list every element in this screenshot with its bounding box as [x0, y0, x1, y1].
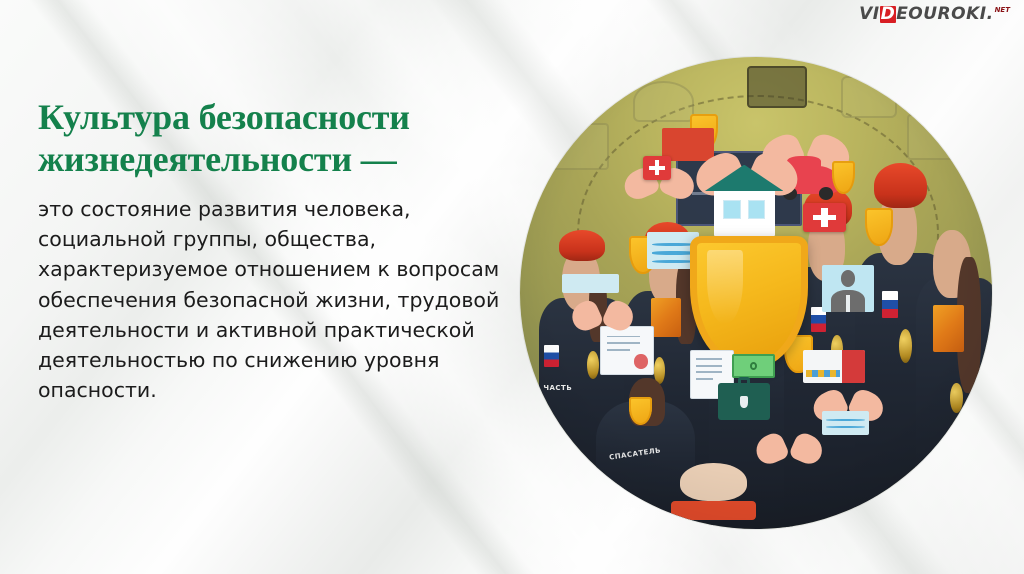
protecting-hands-icon	[572, 302, 633, 330]
fire-truck-cab	[842, 350, 864, 383]
person-tie	[846, 295, 850, 312]
document-stamp	[634, 354, 647, 368]
checklist-line	[696, 358, 722, 360]
wave-line	[652, 260, 696, 263]
money-icon	[732, 354, 774, 378]
cpr-dummy	[680, 463, 746, 501]
cpr-dummy-base	[671, 501, 756, 520]
slide-body-text: это состояние развития человека, социаль…	[38, 194, 508, 405]
circular-photo: ЧАСТЬ	[520, 57, 992, 529]
document-icon	[600, 326, 654, 375]
document-line	[607, 349, 630, 351]
briefcase-icon	[718, 383, 770, 421]
cadet-scarf	[933, 305, 964, 353]
wall-doodle	[841, 76, 897, 118]
hand-left	[567, 298, 604, 335]
logo-domain-suffix: NET	[995, 7, 1010, 14]
house-window	[723, 200, 740, 219]
title-line-1: Культура безопасности	[38, 96, 498, 138]
videouroki-logo[interactable]: VI D EOUROKI . NET	[859, 6, 1010, 23]
person-card-icon	[822, 265, 874, 312]
document-line	[607, 336, 639, 338]
checklist-line	[696, 371, 722, 373]
wall-doodle	[548, 123, 609, 169]
wall-doodle	[747, 66, 808, 108]
photo-scene-background: ЧАСТЬ	[520, 57, 992, 529]
title-line-2-text: жизнедеятельности	[38, 139, 352, 179]
uniform-badge	[899, 329, 912, 363]
logo-text-prefix: VI	[859, 6, 879, 23]
cadet-figure	[916, 189, 992, 529]
waves-icon	[822, 411, 869, 435]
cadet-beret-icon	[559, 230, 606, 261]
cadet-scarf	[651, 298, 681, 338]
briefcase-lock	[740, 396, 748, 409]
fire-truck-stripe	[806, 370, 840, 377]
uniform-chest-text: ЧАСТЬ	[543, 384, 572, 392]
logo-text-main: EOUROKI	[896, 6, 986, 23]
hand-right	[787, 430, 826, 468]
russian-flag-patch	[882, 291, 898, 317]
first-aid-icon	[803, 203, 845, 231]
checklist-line	[696, 365, 722, 367]
wave-line	[652, 243, 696, 246]
protecting-hands-icon	[756, 435, 822, 463]
tray-icon	[562, 274, 619, 293]
hand-right	[601, 298, 638, 335]
car-wheel	[819, 187, 834, 200]
russian-flag-patch	[544, 345, 558, 367]
document-line	[607, 342, 639, 344]
wave-line	[652, 251, 696, 254]
logo-accent-letter: D	[880, 6, 897, 23]
wave-line	[826, 426, 866, 428]
house-window	[748, 200, 765, 219]
wall-doodle	[633, 81, 694, 123]
person-head	[841, 270, 856, 287]
hand-left	[752, 430, 791, 468]
slide-title: Культура безопасности жизнедеятельности …	[38, 96, 498, 180]
fire-truck-icon	[803, 350, 864, 383]
wave-line	[826, 419, 866, 421]
text-column: Культура безопасности жизнедеятельности …	[38, 96, 498, 405]
title-em-dash: —	[361, 139, 397, 179]
slide: VI D EOUROKI . NET Культура безопасности…	[0, 0, 1024, 574]
first-aid-icon	[643, 156, 671, 180]
checklist-line	[696, 378, 713, 380]
title-line-2: жизнедеятельности —	[38, 138, 498, 180]
house-icon	[714, 189, 775, 236]
logo-dot: .	[987, 6, 994, 23]
